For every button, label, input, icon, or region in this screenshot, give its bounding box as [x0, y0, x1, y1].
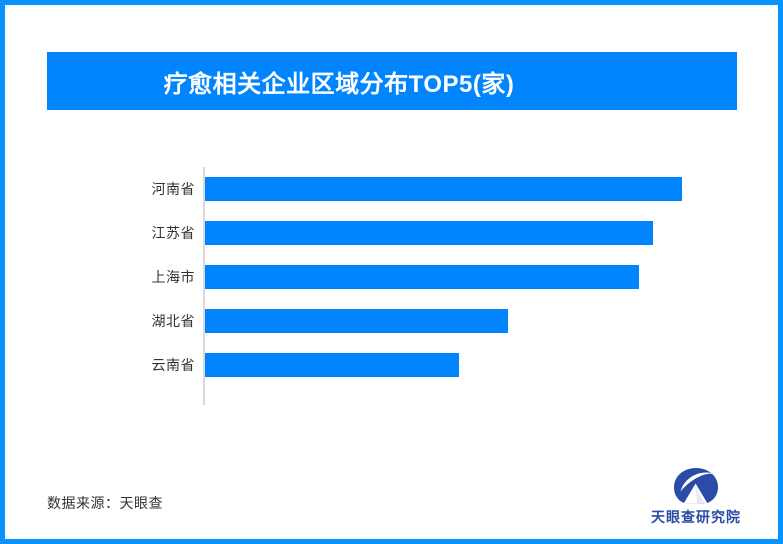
bar-track — [205, 265, 639, 289]
bar-row: 河南省 — [5, 167, 783, 211]
bar-category-label-henan: 河南省 — [95, 179, 195, 199]
bar-hubei — [205, 309, 508, 333]
page-title: 疗愈相关企业区域分布TOP5(家) — [164, 64, 515, 99]
bar-row: 云南省 — [5, 343, 783, 387]
bar-category-label-jiangsu: 江苏省 — [95, 223, 195, 243]
title-banner: 疗愈相关企业区域分布TOP5(家) — [47, 52, 737, 110]
brand-logo-text: 天眼查研究院 — [651, 507, 741, 527]
bar-row: 江苏省 — [5, 211, 783, 255]
bar-row: 湖北省 — [5, 299, 783, 343]
bar-track — [205, 309, 508, 333]
bar-rows: 河南省 江苏省 上海市 湖北省 — [5, 167, 783, 387]
bar-track — [205, 353, 459, 377]
data-source-note: 数据来源：天眼查 — [47, 493, 163, 513]
bar-category-label-shanghai: 上海市 — [95, 267, 195, 287]
bar-chart: 河南省 江苏省 上海市 湖北省 — [5, 155, 783, 415]
infographic-canvas: 疗愈相关企业区域分布TOP5(家) 河南省 江苏省 上海市 — [0, 0, 783, 544]
bar-shanghai — [205, 265, 639, 289]
bar-category-label-yunnan: 云南省 — [95, 355, 195, 375]
tianyancha-eye-arch-icon — [673, 467, 719, 505]
bar-row: 上海市 — [5, 255, 783, 299]
bar-yunnan — [205, 353, 459, 377]
bar-jiangsu — [205, 221, 653, 245]
bar-category-label-hubei: 湖北省 — [95, 311, 195, 331]
bar-track — [205, 221, 653, 245]
bar-henan — [205, 177, 682, 201]
brand-logo: 天眼查研究院 — [636, 467, 756, 529]
bar-track — [205, 177, 682, 201]
